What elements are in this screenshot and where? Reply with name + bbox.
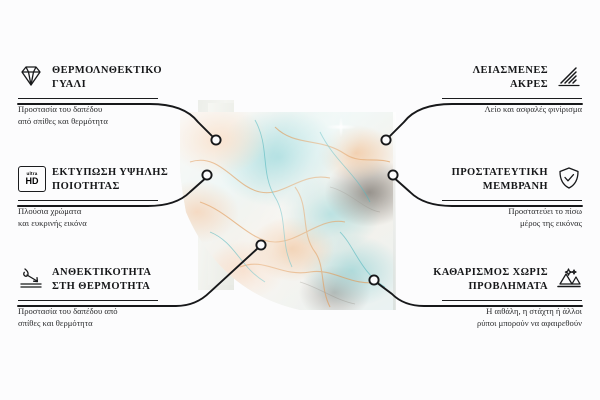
feature-desc-line1: Η αιθάλη, η στάχτη ή άλλοι (392, 306, 582, 318)
feature-desc-line2: μέρος της εικόνας (392, 218, 582, 230)
product-image (180, 92, 410, 322)
feature-desc-line2: ρύποι μπορούν να αφαιρεθούν (392, 318, 582, 330)
feature-title-line2: ΑΚΡΕΣ (473, 78, 548, 92)
feature-title-line1: ΕΚΤΥΠΩΣΗ ΥΨΗΛΗΣ (52, 166, 168, 180)
feature-title-line2: ΣΤΗ ΘΕΡΜΟΤΗΤΑ (52, 280, 151, 294)
feature-desc-line2: από σπίθες και θερμότητα (18, 116, 208, 128)
infographic-stage: ΘΕΡΜΟΛΝΘΕΚΤΙΚΟ ΓΥΑΛΙ Προστασία του δαπέδ… (0, 0, 600, 400)
feature-divider (442, 200, 582, 201)
feature-divider (442, 300, 582, 301)
feature-title-line1: ΛΕΙΑΣΜΕΝΕΣ (473, 64, 548, 78)
diamond-icon (18, 64, 44, 88)
feature-title-line1: ΚΑΘΑΡΙΣΜΟΣ ΧΩΡΙΣ (433, 266, 548, 280)
feature-desc-line1: Λείο και ασφαλές φινίρισμα (392, 104, 582, 116)
feature-protective-membrane[interactable]: ΠΡΟΣΤΑΤΕΥΤΙΚΗ ΜΕΜΒΡΑΝΗ Προστατεύει το πί… (392, 166, 582, 229)
glass-highlight-sparkle (318, 112, 364, 142)
feature-easy-cleaning[interactable]: ΚΑΘΑΡΙΣΜΟΣ ΧΩΡΙΣ ΠΡΟΒΛΗΜΑΤΑ Η αιθάλη, η … (392, 266, 582, 329)
feature-heat-durability[interactable]: ΑΝΘΕΚΤΙΚΟΤΗΤΑ ΣΤΗ ΘΕΡΜΟΤΗΤΑ Προστασία το… (18, 266, 208, 329)
feature-divider (442, 98, 582, 99)
shield-check-icon (556, 166, 582, 190)
feature-title-line1: ΑΝΘΕΚΤΙΚΟΤΗΤΑ (52, 266, 151, 280)
glass-splashback-front (180, 92, 395, 310)
feature-divider (18, 200, 158, 201)
feature-desc-line2: σπίθες και θερμότητα (18, 318, 208, 330)
flame-deflect-icon (18, 266, 44, 290)
feature-high-quality-print[interactable]: ultra HD ΕΚΤΥΠΩΣΗ ΥΨΗΛΗΣ ΠΟΙΟΤΗΤΑΣ Πλούσ… (18, 166, 208, 229)
feature-desc-line2: και ευκρινής εικόνα (18, 218, 208, 230)
feature-divider (18, 98, 158, 99)
sparkle-clean-icon (556, 266, 582, 290)
feature-divider (18, 300, 158, 301)
feature-title-line1: ΘΕΡΜΟΛΝΘΕΚΤΙΚΟ (52, 64, 162, 78)
feature-desc-line1: Προστασία του δαπέδου από (18, 306, 208, 318)
feature-desc-line1: Προστατεύει το πίσω (392, 206, 582, 218)
feature-polished-edges[interactable]: ΛΕΙΑΣΜΕΝΕΣ ΑΚΡΕΣ Λείο και ασφαλές φινίρι… (392, 64, 582, 116)
feature-title-line2: ΠΡΟΒΛΗΜΑΤΑ (433, 280, 548, 294)
hatched-triangle-icon (556, 64, 582, 88)
feature-desc-line1: Πλούσια χρώματα (18, 206, 208, 218)
ultra-hd-icon-label-bottom: HD (26, 177, 39, 186)
feature-desc-line1: Προστασία του δαπέδου (18, 104, 208, 116)
feature-heat-resistant-glass[interactable]: ΘΕΡΜΟΛΝΘΕΚΤΙΚΟ ΓΥΑΛΙ Προστασία του δαπέδ… (18, 64, 208, 127)
ultra-hd-icon: ultra HD (18, 166, 44, 190)
feature-title-line2: ΜΕΜΒΡΑΝΗ (452, 180, 548, 194)
feature-title-line2: ΓΥΑΛΙ (52, 78, 162, 92)
feature-title-line1: ΠΡΟΣΤΑΤΕΥΤΙΚΗ (452, 166, 548, 180)
feature-title-line2: ΠΟΙΟΤΗΤΑΣ (52, 180, 168, 194)
